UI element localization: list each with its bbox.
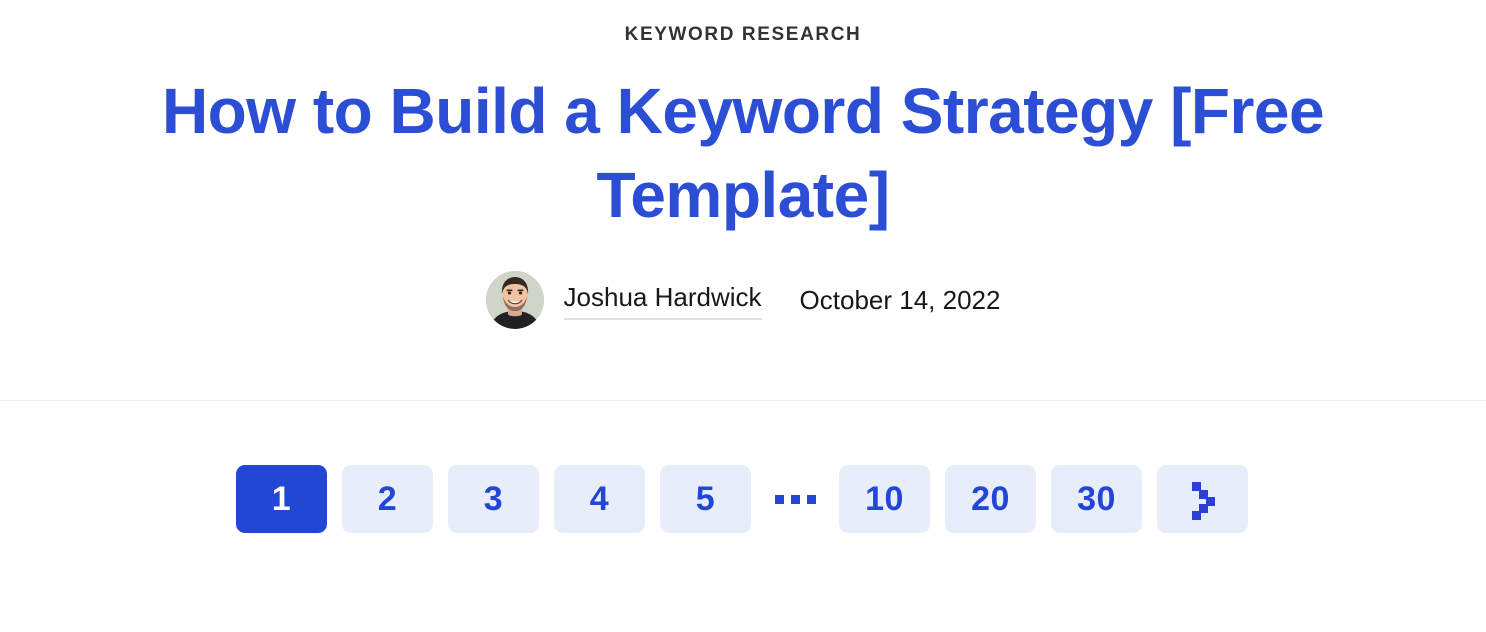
page-title: How to Build a Keyword Strategy [Free Te… — [88, 69, 1398, 237]
author-link[interactable]: Joshua Hardwick — [564, 280, 762, 320]
page-button-20[interactable]: 20 — [945, 465, 1036, 533]
article-page: KEYWORD RESEARCH How to Build a Keyword … — [0, 0, 1486, 632]
page-button-10[interactable]: 10 — [839, 465, 930, 533]
page-button-5[interactable]: 5 — [660, 465, 751, 533]
chevron-right-icon — [1190, 482, 1216, 516]
pagination-ellipsis-icon — [766, 465, 824, 533]
article-header: KEYWORD RESEARCH How to Build a Keyword … — [0, 0, 1486, 329]
category-eyebrow: KEYWORD RESEARCH — [0, 24, 1486, 47]
page-button-1[interactable]: 1 — [236, 465, 327, 533]
pagination: 1 2 3 4 5 10 20 30 — [236, 465, 1248, 533]
header-divider — [0, 400, 1486, 401]
next-page-button[interactable] — [1157, 465, 1248, 533]
page-button-2[interactable]: 2 — [342, 465, 433, 533]
avatar — [486, 271, 544, 329]
publish-date: October 14, 2022 — [800, 283, 1001, 317]
byline: Joshua Hardwick October 14, 2022 — [0, 271, 1486, 329]
page-button-30[interactable]: 30 — [1051, 465, 1142, 533]
page-button-3[interactable]: 3 — [448, 465, 539, 533]
page-button-4[interactable]: 4 — [554, 465, 645, 533]
